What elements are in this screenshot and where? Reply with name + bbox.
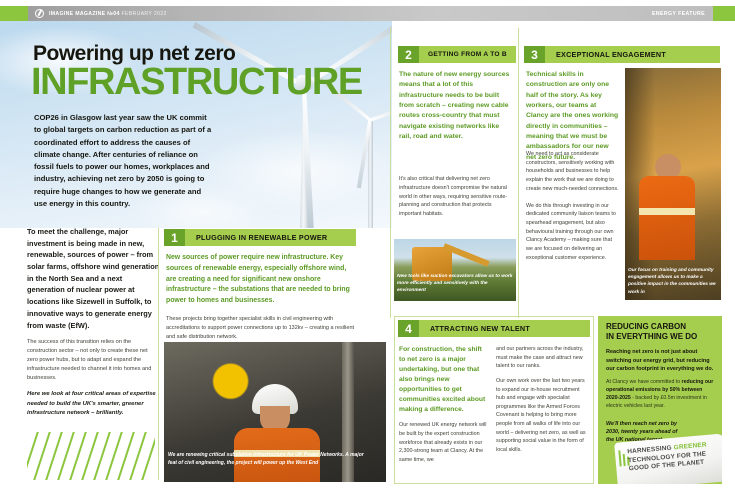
section-1-body: These projects bring together specialist…: [166, 315, 356, 342]
section-4-body-right-2: Our own work over the last two years to …: [496, 377, 588, 455]
masthead-section-label: ENERGY FEATURE: [652, 11, 705, 17]
masthead-brand: IMAGINE MAGAZINE №04: [49, 11, 120, 17]
section-title-1: PLUGGING IN RENEWABLE POWER: [185, 229, 356, 246]
left-column-lede: To meet the challenge, major investment …: [27, 226, 160, 331]
column-divider: [390, 28, 391, 318]
left-column-standfirst: Here we look at four critical areas of e…: [27, 390, 160, 418]
background-turbine-blade: [368, 96, 392, 123]
section-header-4: 4 ATTRACTING NEW TALENT: [398, 320, 590, 337]
section-4-column-left: For construction, the shift to net zero …: [399, 345, 487, 465]
carbon-panel-title: REDUCING CARBON IN EVERYTHING WE DO: [606, 322, 716, 341]
carbon-panel-title-line2: IN EVERYTHING WE DO: [606, 332, 716, 342]
masthead-issue-text: IMAGINE MAGAZINE №04 FEBRUARY 2022: [49, 11, 167, 17]
section-title-3: EXCEPTIONAL ENGAGEMENT: [545, 46, 720, 63]
section-header-1: 1 PLUGGING IN RENEWABLE POWER: [164, 229, 356, 246]
decorative-hatch-lines: [27, 432, 155, 480]
left-column-body: The success of this transition relies on…: [27, 338, 160, 383]
masthead-date: FEBRUARY 2022: [120, 11, 167, 17]
section-number-2: 2: [398, 46, 419, 63]
section-1-caption: We are renewing critical substation infr…: [168, 452, 368, 467]
section-3-photo-community-engagement: [625, 68, 721, 300]
section-number-4: 4: [398, 320, 419, 337]
section-4-lede: For construction, the shift to net zero …: [399, 345, 487, 415]
page-title: INFRASTRUCTURE: [31, 63, 362, 101]
carbon-panel-title-line1: REDUCING CARBON: [606, 322, 716, 332]
column-divider: [158, 228, 159, 480]
section-4-body-right-1: and our partners across the industry, mu…: [496, 345, 588, 371]
section-title-2: GETTING FROM A TO B: [419, 46, 516, 63]
photo-reflective-band: [639, 208, 695, 215]
masthead-bar: IMAGINE MAGAZINE №04 FEBRUARY 2022 ENERG…: [0, 6, 735, 21]
section-2-lede: The nature of new energy sources means t…: [399, 70, 511, 142]
column-divider: [518, 28, 519, 318]
section-header-3: 3 EXCEPTIONAL ENGAGEMENT: [524, 46, 720, 63]
section-3-caption: Our focus on training and community enga…: [628, 267, 718, 296]
masthead-accent-tab-left: [0, 6, 28, 21]
section-number-1: 1: [164, 229, 185, 246]
carbon-body-pre: At Clancy we have committed to: [606, 379, 682, 385]
carbon-panel-lede: Reaching net zero is not just about swit…: [606, 348, 716, 374]
section-1-lede: New sources of power require new infrast…: [166, 253, 356, 307]
intro-paragraph: COP26 in Glasgow last year saw the UK co…: [34, 112, 214, 210]
section-4-column-right: and our partners across the industry, mu…: [496, 345, 588, 455]
photo-hi-vis-vest: [639, 176, 695, 260]
section-title-4: ATTRACTING NEW TALENT: [419, 320, 590, 337]
section-4-body-left: Our renewed UK energy network will be bu…: [399, 421, 487, 464]
section-3-lede: Technical skills in construction are onl…: [526, 70, 620, 163]
magazine-spread: IMAGINE MAGAZINE №04 FEBRUARY 2022 ENERG…: [0, 0, 735, 489]
reducing-carbon-panel: REDUCING CARBON IN EVERYTHING WE DO Reac…: [598, 316, 722, 484]
section-2-caption: New tools like suction excavators allow …: [397, 273, 513, 294]
section-2-body: It's also critical that delivering net z…: [399, 175, 511, 219]
clancy-logo-icon: [35, 9, 44, 18]
section-number-3: 3: [524, 46, 545, 63]
left-column: To meet the challenge, major investment …: [27, 226, 160, 419]
masthead-accent-tab-right: [713, 6, 735, 21]
carbon-panel-body: At Clancy we have committed to reducing …: [606, 378, 716, 410]
section-header-2: 2 GETTING FROM A TO B: [398, 46, 516, 63]
section-3-body: We need to act as considerate constructo…: [526, 150, 620, 262]
